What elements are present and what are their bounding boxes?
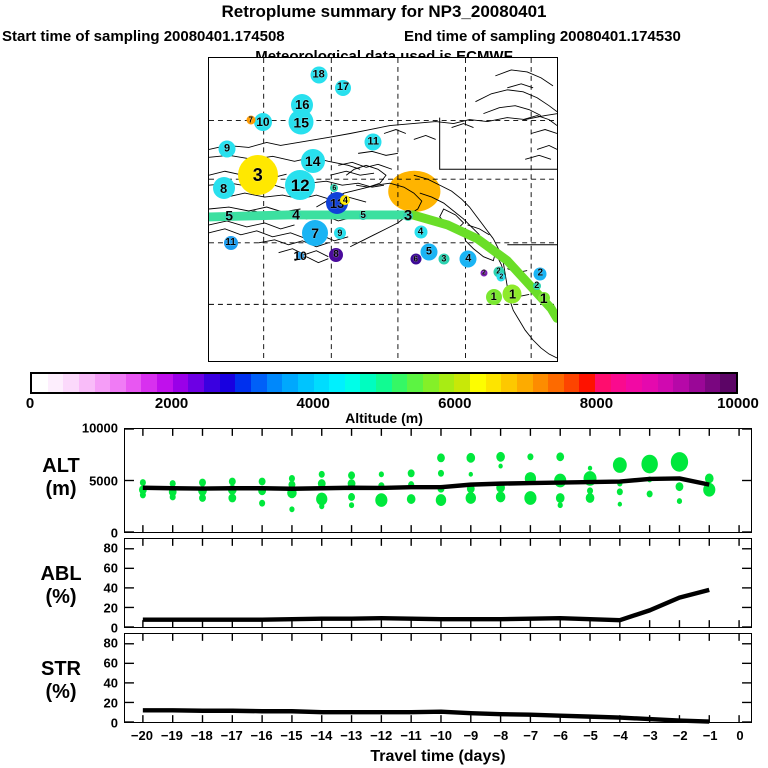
y-tick-label: 60 [62,561,118,576]
map-marker-label: 6 [332,185,336,192]
map-marker-day-9: 9 [219,140,236,157]
graticule [209,58,557,361]
map-marker-day-6: 6 [330,184,338,192]
colorbar-swatch [298,374,314,392]
alt-scatter-point [408,469,415,477]
alt-scatter-point [348,471,355,479]
alt-scatter-point [556,493,565,503]
map-marker-day-4: 4 [460,250,477,267]
alt-scatter-point [170,480,176,487]
colorbar-swatch [611,374,627,392]
map-marker-day-15: 15 [289,110,314,135]
alt-scatter-point [375,493,387,507]
map-marker-label: 14 [305,154,321,168]
y-tick-label: 40 [62,581,118,596]
colorbar-swatch [251,374,267,392]
map-marker-label: 11 [225,238,236,248]
colorbar-swatch [658,374,674,392]
y-tick-label: 5000 [62,473,118,488]
map-marker-label: 5 [426,246,432,257]
map-marker-label: 10 [294,250,307,262]
alt-plot [124,428,752,533]
alt-scatter-point [466,492,476,504]
colorbar-swatch [423,374,439,392]
colorbar-swatch [95,374,111,392]
alt-scatter-point [437,453,445,462]
colorbar-swatch [188,374,204,392]
colorbar-swatch [595,374,611,392]
alt-graphics [125,429,751,532]
colorbar-swatch [220,374,236,392]
map-marker-label: 4 [343,196,348,205]
map-marker-day-14: 14 [301,149,325,173]
alt-scatter-point [259,478,266,486]
map-marker-label: 2 [499,273,503,280]
retroplume-map: 1817161510711914381261345453794111085634… [208,57,558,362]
alt-scatter-point [319,471,325,478]
colorbar-swatch [235,374,251,392]
map-marker-label: 9 [337,229,342,238]
map-marker-label: 11 [367,136,379,147]
alt-scatter-point [588,466,592,471]
map-marker-day-4: 4 [292,210,301,219]
map-marker-label: 2 [534,281,539,290]
colorbar-swatch [360,374,376,392]
map-marker-day-3: 3 [238,155,278,195]
alt-scatter-point [671,452,688,472]
colorbar-swatch [314,374,330,392]
map-marker-label: 1 [540,291,548,305]
map-marker-label: 3 [404,208,412,223]
alt-scatter-point [617,488,623,495]
colorbar-swatch [533,374,549,392]
map-marker-day-3: 3 [403,211,413,221]
map-marker-label: 9 [224,143,230,154]
colorbar-swatch [345,374,361,392]
map-marker-label: 15 [293,115,309,129]
alt-scatter-point [527,453,533,460]
xaxis-title: Travel time (days) [124,748,752,766]
alt-scatter-point [289,506,294,512]
colorbar-swatch [564,374,580,392]
colorbar-swatch [141,374,157,392]
alt-scatter-point [613,457,627,473]
map-centroid-blob [388,171,440,212]
alt-scatter-point [677,498,682,504]
map-marker-day-8: 8 [213,177,235,199]
colorbar-swatch [267,374,283,392]
colorbar-swatch [282,374,298,392]
map-marker-day-11: 11 [365,133,382,150]
alt-scatter-point [466,453,475,463]
alt-scatter-point [379,471,384,477]
y-tick-label: 0 [62,621,118,636]
map-marker-label: 1 [509,287,516,300]
alt-scatter-point [558,502,563,508]
y-tick-label: 0 [62,716,118,731]
map-centroid-blobs [388,171,440,212]
map-marker-label: 10 [256,116,269,128]
colorbar-swatch [501,374,517,392]
map-marker-label: 4 [465,253,471,264]
alt-scatter-point [140,491,146,498]
y-tick-label: 10000 [62,421,118,436]
map-marker-day-4: 4 [414,226,427,239]
colorbar-swatch [126,374,142,392]
colorbar-swatch [720,374,736,392]
colorbar-swatch [486,374,502,392]
map-marker-day-3: 3 [438,254,449,265]
str-line [143,710,709,721]
map-marker-label: 2 [538,269,544,279]
abl-graphics [125,539,751,627]
colorbar-swatch [439,374,455,392]
abl-line [143,590,709,620]
page-title: Retroplume summary for NP3_20080401 [0,2,768,22]
map-marker-day-5: 5 [359,212,367,220]
alt-scatter-point [170,494,176,501]
map-marker-label: 6 [413,255,417,263]
map-marker-label: 7 [311,226,319,240]
y-tick-label: 40 [62,676,118,691]
colorbar-swatch [157,374,173,392]
map-graphics [209,58,557,361]
map-marker-label: 7 [249,116,253,124]
str-graphics [125,634,751,722]
colorbar-swatch [548,374,564,392]
colorbar-swatch [579,374,595,392]
map-marker-label: 12 [291,177,310,194]
colorbar-swatch [454,374,470,392]
alt-scatter-point [436,494,446,506]
alt-scatter-point [641,455,657,474]
map-marker-day-2: 2 [534,267,547,280]
colorbar-swatch [673,374,689,392]
map-marker-label: 5 [225,209,233,223]
alt-scatter-point [496,492,506,503]
colorbar-swatch [63,374,79,392]
y-tick-label: 0 [62,526,118,541]
colorbar-swatch [110,374,126,392]
map-marker-day-6: 6 [410,254,421,265]
str-plot [124,633,752,723]
map-marker-day-17: 17 [335,80,351,96]
map-marker-day-2: 2 [480,270,487,277]
alt-scatter-point [556,452,564,461]
map-marker-label: 1 [491,292,497,303]
map-marker-day-7: 7 [302,220,328,246]
map-marker-day-10: 10 [296,252,304,260]
end-time-label: End time of sampling 20080401.174530 [404,28,681,45]
map-marker-label: 4 [292,208,300,222]
map-marker-label: 4 [418,227,424,237]
alt-scatter-point [496,452,505,462]
map-marker-day-18: 18 [310,66,327,83]
colorbar-swatch [329,374,345,392]
alt-scatter-point [586,493,595,503]
colorbar-swatch [642,374,658,392]
map-marker-day-12: 12 [285,170,315,200]
alt-scatter-point [524,491,536,505]
colorbar-swatch [79,374,95,392]
y-tick-label: 80 [62,636,118,651]
map-marker-day-2: 2 [533,282,541,290]
colorbar-swatch [689,374,705,392]
alt-scatter-point [469,472,473,477]
map-marker-day-1: 1 [538,292,550,304]
map-marker-day-5: 5 [420,243,437,260]
alt-scatter-point [140,479,146,486]
x-tick-label: 0 [720,728,760,743]
colorbar-swatch [470,374,486,392]
map-marker-day-4: 4 [340,195,350,205]
colorbar-swatch [705,374,721,392]
map-marker-label: 2 [482,270,486,277]
alt-scatter-point [199,494,206,502]
alt-scatter-point [229,478,236,486]
alt-scatter-point [618,502,622,507]
alt-scatter-point [199,479,206,487]
map-marker-day-8: 8 [329,248,343,262]
start-time-label: Start time of sampling 20080401.174508 [2,28,285,45]
abl-plot [124,538,752,628]
y-tick-label: 80 [62,541,118,556]
map-marker-day-1: 1 [486,289,502,305]
colorbar-swatch [204,374,220,392]
alt-scatter-point [498,464,502,469]
y-tick-label: 60 [62,656,118,671]
map-marker-day-7: 7 [246,116,255,125]
map-marker-label: 8 [333,250,339,260]
map-marker-day-5: 5 [225,211,234,220]
map-marker-day-2: 2 [497,272,506,281]
map-marker-label: 3 [253,166,263,184]
map-marker-label: 3 [441,255,446,264]
map-marker-day-10: 10 [254,113,272,131]
map-marker-day-11: 11 [224,236,238,250]
colorbar-swatch [392,374,408,392]
alt-scatter-point [349,502,354,508]
alt-scatter-point [348,493,355,501]
colorbar-swatch [376,374,392,392]
alt-scatter-point [407,494,416,504]
alt-scatter-point [228,494,236,503]
alt-scatter-point [319,503,324,509]
map-marker-day-9: 9 [334,227,346,239]
colorbar-swatch [626,374,642,392]
colorbar-swatch [48,374,64,392]
colorbar-swatch [407,374,423,392]
alt-scatter-point [438,470,444,477]
colorbar-swatch [32,374,48,392]
map-marker-label: 17 [337,82,349,93]
map-marker-label: 5 [360,211,366,221]
altitude-colorbar [30,372,738,394]
alt-mean-line [143,478,709,488]
alt-scatter-point [676,482,684,491]
map-marker-label: 8 [220,182,227,195]
y-tick-label: 20 [62,601,118,616]
map-marker-day-1: 1 [503,284,522,303]
alt-scatter-point [647,490,653,497]
colorbar-swatch [173,374,189,392]
colorbar-swatch [517,374,533,392]
alt-scatter-point [259,500,265,507]
map-marker-label: 18 [312,69,324,80]
y-tick-label: 20 [62,696,118,711]
